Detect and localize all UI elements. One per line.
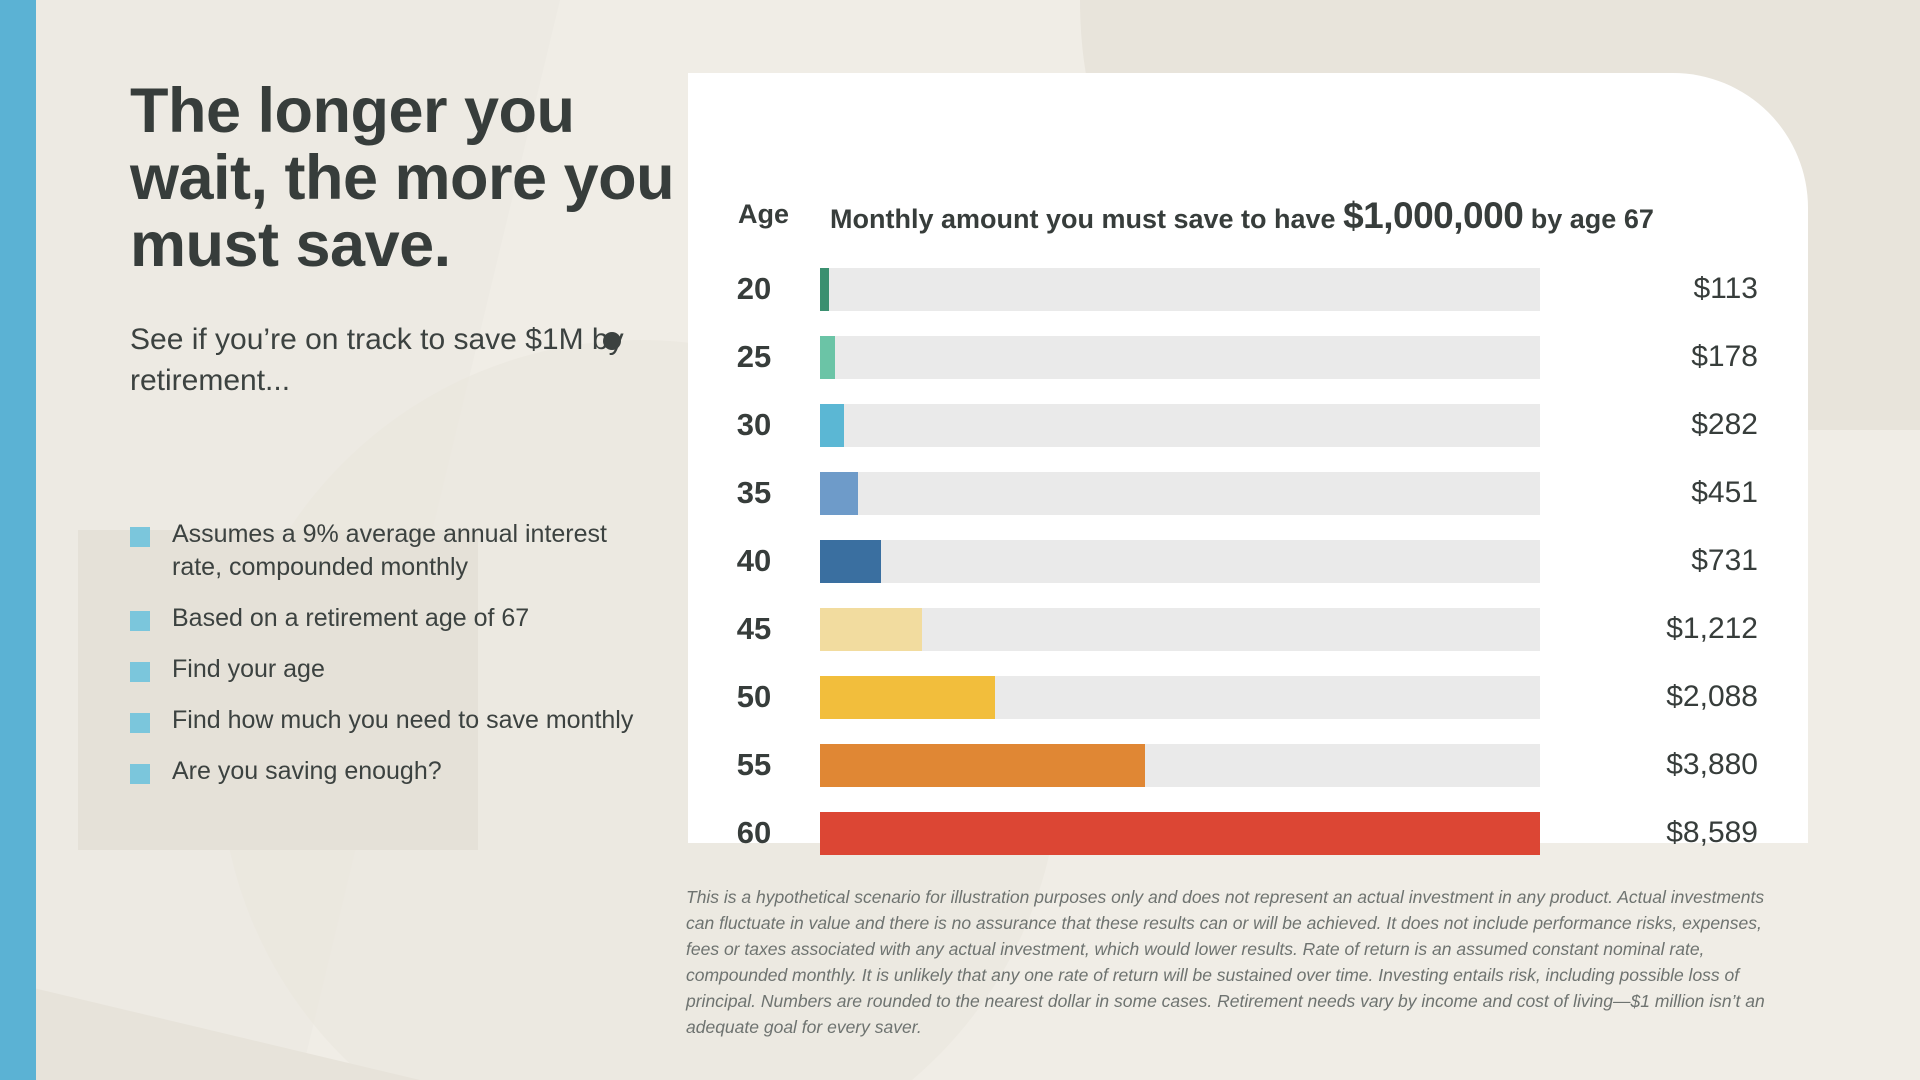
square-bullet-icon (130, 611, 150, 631)
table-row: 35$451 (688, 459, 1808, 527)
row-age-label: 20 (688, 271, 820, 307)
header-prefix: Monthly amount you must save to have (830, 204, 1343, 234)
list-item: Are you saving enough? (130, 755, 650, 788)
list-item: Based on a retirement age of 67 (130, 602, 650, 635)
table-row: 50$2,088 (688, 663, 1808, 731)
chart-header: Age Monthly amount you must save to have… (688, 73, 1808, 183)
bar-track (820, 472, 1540, 515)
left-accent-bar (0, 0, 36, 1080)
header-amount: $1,000,000 (1343, 195, 1523, 236)
row-age-label: 30 (688, 407, 820, 443)
bar-track (820, 744, 1540, 787)
bar-track (820, 336, 1540, 379)
list-item: Find your age (130, 653, 650, 686)
row-age-label: 50 (688, 679, 820, 715)
page-title: The longer you wait, the more you must s… (130, 78, 690, 278)
bar-fill (820, 608, 922, 651)
row-value-label: $3,880 (1540, 748, 1808, 782)
header-suffix: by age 67 (1523, 204, 1654, 234)
bar-fill (820, 540, 881, 583)
row-value-label: $113 (1540, 272, 1808, 306)
table-row: 25$178 (688, 323, 1808, 391)
table-row: 45$1,212 (688, 595, 1808, 663)
row-age-label: 45 (688, 611, 820, 647)
row-age-label: 35 (688, 475, 820, 511)
row-age-label: 60 (688, 815, 820, 851)
row-value-label: $2,088 (1540, 680, 1808, 714)
bar-fill (820, 472, 858, 515)
table-row: 40$731 (688, 527, 1808, 595)
row-value-label: $178 (1540, 340, 1808, 374)
bullet-list: Assumes a 9% average annual interest rat… (130, 518, 650, 806)
square-bullet-icon (130, 527, 150, 547)
bar-track (820, 676, 1540, 719)
bar-fill (820, 676, 995, 719)
column-header-main: Monthly amount you must save to have $1,… (830, 195, 1654, 237)
bar-fill (820, 812, 1540, 855)
bar-track (820, 268, 1540, 311)
chart-card: Age Monthly amount you must save to have… (688, 73, 1808, 843)
square-bullet-icon (130, 662, 150, 682)
square-bullet-icon (130, 713, 150, 733)
bar-track (820, 540, 1540, 583)
table-row: 30$282 (688, 391, 1808, 459)
square-bullet-icon (130, 764, 150, 784)
row-value-label: $451 (1540, 476, 1808, 510)
bar-fill (820, 404, 844, 447)
column-header-age: Age (738, 199, 789, 230)
row-age-label: 40 (688, 543, 820, 579)
bar-fill (820, 268, 829, 311)
list-item-label: Find how much you need to save monthly (172, 704, 633, 737)
disclaimer-text: This is a hypothetical scenario for illu… (686, 884, 1796, 1040)
list-item-label: Assumes a 9% average annual interest rat… (172, 518, 650, 584)
chart-rows: 20$11325$17830$28235$45140$73145$1,21250… (688, 255, 1808, 867)
list-item-label: Are you saving enough? (172, 755, 442, 788)
bar-track (820, 812, 1540, 855)
row-value-label: $282 (1540, 408, 1808, 442)
list-item: Assumes a 9% average annual interest rat… (130, 518, 650, 584)
list-item-label: Based on a retirement age of 67 (172, 602, 529, 635)
row-age-label: 25 (688, 339, 820, 375)
row-value-label: $731 (1540, 544, 1808, 578)
row-age-label: 55 (688, 747, 820, 783)
table-row: 20$113 (688, 255, 1808, 323)
bar-track (820, 608, 1540, 651)
row-value-label: $8,589 (1540, 816, 1808, 850)
list-item-label: Find your age (172, 653, 325, 686)
bar-track (820, 404, 1540, 447)
table-row: 55$3,880 (688, 731, 1808, 799)
subheading: See if you’re on track to save $1M by re… (130, 320, 690, 402)
list-item: Find how much you need to save monthly (130, 704, 650, 737)
bar-fill (820, 336, 835, 379)
left-column: The longer you wait, the more you must s… (130, 78, 690, 402)
bar-fill (820, 744, 1145, 787)
table-row: 60$8,589 (688, 799, 1808, 867)
row-value-label: $1,212 (1540, 612, 1808, 646)
